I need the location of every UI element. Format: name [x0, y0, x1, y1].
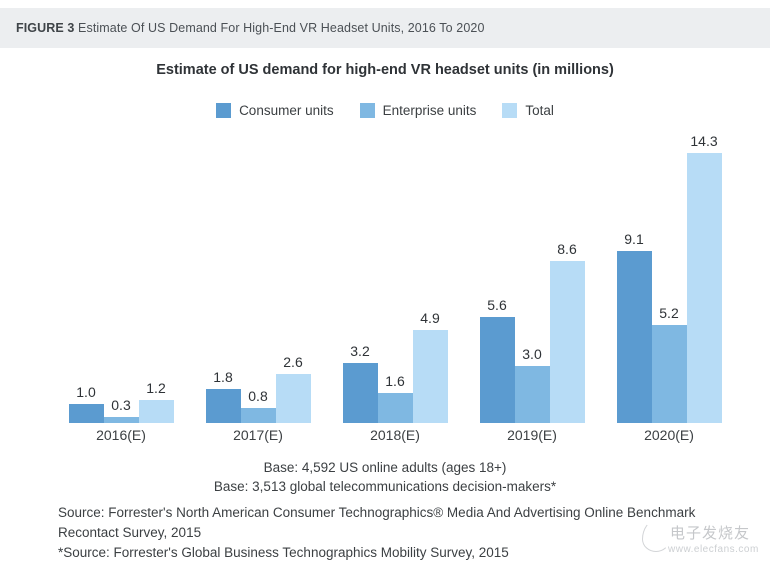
bar-value-label: 3.2 [350, 344, 369, 358]
bar-column: 1.2 [139, 135, 174, 423]
bar[interactable] [413, 330, 448, 423]
bar-column: 3.2 [343, 135, 378, 423]
bar-value-label: 1.0 [76, 385, 95, 399]
bar-column: 1.0 [69, 135, 104, 423]
x-axis-tick-label: 2018(E) [334, 427, 456, 443]
bar-group: 3.21.64.9 [334, 135, 456, 423]
bar-column: 0.3 [104, 135, 139, 423]
x-axis-tick-label: 2016(E) [60, 427, 182, 443]
bar[interactable] [480, 317, 515, 423]
bar-group: 1.00.31.2 [60, 135, 182, 423]
bar[interactable] [652, 325, 687, 423]
bar-value-label: 8.6 [557, 242, 576, 256]
chart-legend: Consumer units Enterprise units Total [0, 103, 770, 118]
bar-group: 1.80.82.6 [197, 135, 319, 423]
legend-swatch-icon [360, 103, 375, 118]
figure-header-bar: FIGURE 3 Estimate Of US Demand For High-… [0, 8, 770, 48]
base-note-line: Base: 3,513 global telecommunications de… [0, 477, 770, 496]
bar-column: 5.6 [480, 135, 515, 423]
base-note-line: Base: 4,592 US online adults (ages 18+) [0, 458, 770, 477]
bar[interactable] [617, 251, 652, 423]
bar[interactable] [104, 417, 139, 423]
bar-column: 14.3 [687, 135, 722, 423]
bar-column: 0.8 [241, 135, 276, 423]
bar[interactable] [69, 404, 104, 423]
figure-number-label: FIGURE 3 [16, 21, 78, 35]
bar-value-label: 0.3 [111, 398, 130, 412]
chart-plot-area: 1.00.31.21.80.82.63.21.64.95.63.08.69.15… [0, 135, 770, 423]
bar[interactable] [343, 363, 378, 423]
bar-column: 8.6 [550, 135, 585, 423]
legend-item-total: Total [502, 103, 554, 118]
legend-label: Consumer units [239, 103, 334, 118]
bar[interactable] [378, 393, 413, 423]
bar-column: 3.0 [515, 135, 550, 423]
legend-item-enterprise-units: Enterprise units [360, 103, 477, 118]
bar[interactable] [206, 389, 241, 423]
source-line: Recontact Survey, 2015 [58, 523, 758, 543]
bar-value-label: 5.2 [659, 306, 678, 320]
bar-value-label: 3.0 [522, 347, 541, 361]
bar-value-label: 5.6 [487, 298, 506, 312]
bar[interactable] [139, 400, 174, 423]
bar[interactable] [687, 153, 722, 423]
bar-group: 5.63.08.6 [471, 135, 593, 423]
base-notes: Base: 4,592 US online adults (ages 18+) … [0, 458, 770, 496]
legend-item-consumer-units: Consumer units [216, 103, 334, 118]
bar-value-label: 1.6 [385, 374, 404, 388]
x-axis-tick-label: 2020(E) [608, 427, 730, 443]
bar-value-label: 2.6 [283, 355, 302, 369]
bar-column: 2.6 [276, 135, 311, 423]
bar-column: 1.8 [206, 135, 241, 423]
x-axis-tick-labels: 2016(E)2017(E)2018(E)2019(E)2020(E) [60, 427, 730, 443]
legend-swatch-icon [216, 103, 231, 118]
figure-title-label: Estimate Of US Demand For High-End VR He… [78, 21, 484, 35]
bar-column: 1.6 [378, 135, 413, 423]
bar-value-label: 1.2 [146, 381, 165, 395]
chart-title: Estimate of US demand for high-end VR he… [0, 62, 770, 78]
legend-label: Total [525, 103, 554, 118]
legend-swatch-icon [502, 103, 517, 118]
bar[interactable] [276, 374, 311, 423]
source-line: *Source: Forrester's Global Business Tec… [58, 543, 758, 563]
bar[interactable] [550, 261, 585, 423]
bar[interactable] [515, 366, 550, 423]
bar[interactable] [241, 408, 276, 423]
source-line: Source: Forrester's North American Consu… [58, 503, 758, 523]
bar-value-label: 14.3 [690, 134, 717, 148]
bar-column: 9.1 [617, 135, 652, 423]
bar-value-label: 1.8 [213, 370, 232, 384]
bar-column: 4.9 [413, 135, 448, 423]
legend-label: Enterprise units [383, 103, 477, 118]
source-notes: Source: Forrester's North American Consu… [58, 503, 758, 563]
bar-value-label: 9.1 [624, 232, 643, 246]
x-axis-tick-label: 2019(E) [471, 427, 593, 443]
bar-value-label: 4.9 [420, 311, 439, 325]
x-axis-tick-label: 2017(E) [197, 427, 319, 443]
bar-group-container: 1.00.31.21.80.82.63.21.64.95.63.08.69.15… [60, 135, 730, 423]
bar-group: 9.15.214.3 [608, 135, 730, 423]
bar-value-label: 0.8 [248, 389, 267, 403]
bar-column: 5.2 [652, 135, 687, 423]
